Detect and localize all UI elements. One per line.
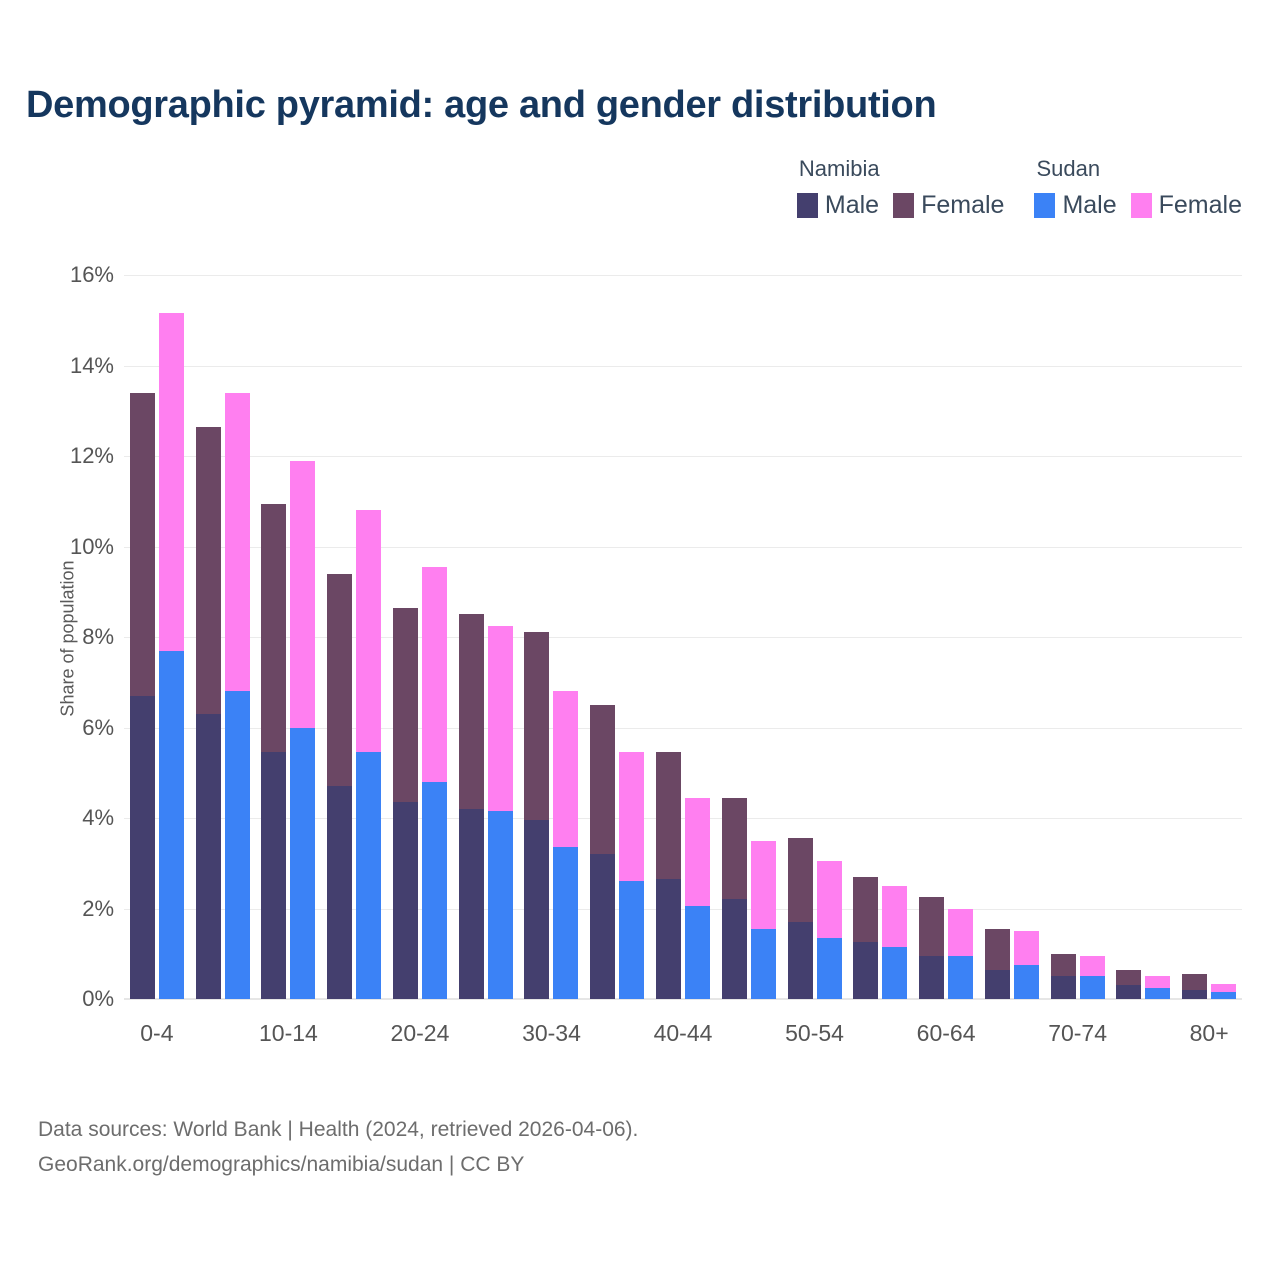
y-axis-tick-label: 14% — [0, 353, 114, 379]
x-axis-tick-blank — [1110, 1020, 1176, 1060]
bar-segment-sudan-female[interactable] — [1080, 956, 1105, 976]
bar-segment-namibia-female[interactable] — [919, 897, 944, 956]
bar-segment-sudan-female[interactable] — [290, 461, 315, 728]
stacked-bar-namibia[interactable] — [1182, 974, 1207, 999]
bar-segment-sudan-female[interactable] — [488, 626, 513, 812]
x-axis-labels: 0-410-1420-2430-3440-4450-5460-6470-7480… — [124, 1020, 1242, 1060]
bar-segment-sudan-male[interactable] — [1211, 992, 1236, 999]
stacked-bar-namibia[interactable] — [261, 504, 286, 999]
bar-segment-namibia-female[interactable] — [853, 877, 878, 943]
stacked-bar-sudan[interactable] — [948, 909, 973, 999]
bar-segment-namibia-male[interactable] — [261, 752, 286, 999]
bar-group — [190, 275, 256, 999]
bar-segment-namibia-female[interactable] — [1182, 974, 1207, 990]
y-axis-tick-label: 8% — [0, 624, 114, 650]
bar-segment-namibia-male[interactable] — [919, 956, 944, 999]
bar-segment-namibia-female[interactable] — [393, 608, 418, 803]
bar-segment-sudan-male[interactable] — [751, 929, 776, 999]
bar-segment-sudan-male[interactable] — [685, 906, 710, 999]
bar-group — [1176, 275, 1242, 999]
bar-segment-sudan-female[interactable] — [882, 886, 907, 947]
bar-segment-sudan-male[interactable] — [225, 691, 250, 999]
bar-segment-namibia-male[interactable] — [722, 899, 747, 999]
bar-group — [1045, 275, 1111, 999]
stacked-bar-sudan[interactable] — [685, 798, 710, 999]
x-axis-tick-blank — [584, 1020, 650, 1060]
bar-group — [782, 275, 848, 999]
stacked-bar-sudan[interactable] — [553, 691, 578, 999]
bar-segment-sudan-female[interactable] — [817, 861, 842, 938]
bar-group — [1110, 275, 1176, 999]
bar-segment-sudan-male[interactable] — [619, 881, 644, 999]
stacked-bar-sudan[interactable] — [356, 510, 381, 999]
plot-area: 0%2%4%6%8%10%12%14%16% — [124, 275, 1242, 999]
x-axis-tick-blank — [716, 1020, 782, 1060]
bar-segment-namibia-female[interactable] — [1116, 970, 1141, 986]
x-axis-tick-label: 80+ — [1176, 1020, 1242, 1060]
bar-segment-namibia-female[interactable] — [261, 504, 286, 753]
x-axis-tick-blank — [979, 1020, 1045, 1060]
bar-segment-namibia-female[interactable] — [788, 838, 813, 922]
stacked-bar-namibia[interactable] — [459, 614, 484, 999]
bar-segment-sudan-female[interactable] — [751, 841, 776, 929]
bar-group — [519, 275, 585, 999]
x-axis-tick-blank — [847, 1020, 913, 1060]
x-axis-tick-label: 60-64 — [913, 1020, 979, 1060]
bar-segment-sudan-male[interactable] — [159, 651, 184, 999]
y-axis-tick-label: 10% — [0, 534, 114, 560]
bar-segment-sudan-male[interactable] — [290, 728, 315, 1000]
bar-segment-namibia-male[interactable] — [459, 809, 484, 999]
bar-segment-sudan-male[interactable] — [948, 956, 973, 999]
bar-segment-namibia-male[interactable] — [196, 714, 221, 999]
bar-segment-sudan-male[interactable] — [1014, 965, 1039, 999]
bar-segment-namibia-male[interactable] — [524, 820, 549, 999]
stacked-bar-namibia[interactable] — [130, 393, 155, 999]
bar-segment-namibia-female[interactable] — [459, 614, 484, 809]
bar-segment-namibia-male[interactable] — [656, 879, 681, 999]
bar-segment-sudan-female[interactable] — [1145, 976, 1170, 987]
x-axis-tick-label: 20-24 — [387, 1020, 453, 1060]
footer-line-2: GeoRank.org/demographics/namibia/sudan |… — [38, 1147, 638, 1182]
bar-segment-sudan-female[interactable] — [685, 798, 710, 907]
plot-wrapper: Share of population 0%2%4%6%8%10%12%14%1… — [0, 0, 1280, 1280]
y-axis-tick-label: 16% — [0, 262, 114, 288]
bar-segment-namibia-male[interactable] — [985, 970, 1010, 999]
bar-segment-namibia-female[interactable] — [130, 393, 155, 696]
stacked-bar-sudan[interactable] — [1145, 976, 1170, 999]
y-axis-tick-label: 6% — [0, 715, 114, 741]
bar-group — [716, 275, 782, 999]
stacked-bar-sudan[interactable] — [817, 861, 842, 999]
bar-segment-namibia-female[interactable] — [524, 632, 549, 820]
stacked-bar-namibia[interactable] — [656, 752, 681, 999]
stacked-bar-namibia[interactable] — [919, 897, 944, 999]
bar-segment-namibia-male[interactable] — [130, 696, 155, 999]
x-axis-tick-label: 70-74 — [1045, 1020, 1111, 1060]
bar-segment-namibia-male[interactable] — [590, 854, 615, 999]
bar-segment-sudan-male[interactable] — [356, 752, 381, 999]
bar-segment-namibia-female[interactable] — [327, 574, 352, 787]
bar-segment-namibia-male[interactable] — [1116, 985, 1141, 999]
stacked-bar-sudan[interactable] — [1014, 931, 1039, 999]
bar-segment-sudan-female[interactable] — [225, 393, 250, 692]
bar-segment-namibia-female[interactable] — [590, 705, 615, 854]
stacked-bar-sudan[interactable] — [1211, 984, 1236, 999]
y-axis-tick-label: 2% — [0, 896, 114, 922]
stacked-bar-sudan[interactable] — [290, 461, 315, 999]
bar-group — [321, 275, 387, 999]
bar-segment-sudan-male[interactable] — [553, 847, 578, 999]
bar-group — [256, 275, 322, 999]
bar-segment-namibia-female[interactable] — [196, 427, 221, 714]
x-axis-tick-label: 0-4 — [124, 1020, 190, 1060]
stacked-bar-namibia[interactable] — [1051, 954, 1076, 999]
bar-segment-sudan-male[interactable] — [1145, 988, 1170, 999]
x-axis-tick-blank — [453, 1020, 519, 1060]
bar-group — [453, 275, 519, 999]
stacked-bar-sudan[interactable] — [159, 313, 184, 999]
bar-group — [650, 275, 716, 999]
bar-segment-namibia-female[interactable] — [656, 752, 681, 879]
stacked-bar-namibia[interactable] — [196, 427, 221, 999]
bar-group — [584, 275, 650, 999]
stacked-bar-sudan[interactable] — [1080, 956, 1105, 999]
x-axis-tick-blank — [321, 1020, 387, 1060]
bar-segment-sudan-female[interactable] — [948, 909, 973, 957]
x-axis-tick-label: 10-14 — [256, 1020, 322, 1060]
stacked-bar-namibia[interactable] — [590, 705, 615, 999]
x-axis-tick-label: 50-54 — [782, 1020, 848, 1060]
bar-group — [913, 275, 979, 999]
bar-segment-namibia-male[interactable] — [788, 922, 813, 999]
bar-segment-sudan-female[interactable] — [356, 510, 381, 752]
bar-segment-namibia-male[interactable] — [1051, 976, 1076, 999]
x-axis-tick-label: 30-34 — [519, 1020, 585, 1060]
bar-segment-namibia-female[interactable] — [1051, 954, 1076, 977]
stacked-bar-sudan[interactable] — [225, 393, 250, 999]
stacked-bar-sudan[interactable] — [422, 567, 447, 999]
bar-segment-sudan-female[interactable] — [553, 691, 578, 847]
stacked-bar-namibia[interactable] — [524, 632, 549, 999]
bar-group — [847, 275, 913, 999]
stacked-bar-sudan[interactable] — [488, 626, 513, 999]
stacked-bar-sudan[interactable] — [882, 886, 907, 999]
stacked-bar-namibia[interactable] — [1116, 970, 1141, 999]
bar-segment-namibia-female[interactable] — [722, 798, 747, 900]
bar-segment-sudan-male[interactable] — [882, 947, 907, 999]
bar-segment-namibia-male[interactable] — [1182, 990, 1207, 999]
bar-segment-sudan-female[interactable] — [619, 752, 644, 881]
footer-line-1: Data sources: World Bank | Health (2024,… — [38, 1112, 638, 1147]
bar-group — [979, 275, 1045, 999]
bar-groups — [124, 275, 1242, 999]
stacked-bar-namibia[interactable] — [788, 838, 813, 999]
bar-segment-sudan-male[interactable] — [488, 811, 513, 999]
bar-group — [124, 275, 190, 999]
chart-page: Demographic pyramid: age and gender dist… — [0, 0, 1280, 1280]
bar-segment-sudan-male[interactable] — [1080, 976, 1105, 999]
y-axis-tick-label: 4% — [0, 805, 114, 831]
bar-segment-sudan-male[interactable] — [817, 938, 842, 999]
bar-segment-sudan-female[interactable] — [1014, 931, 1039, 965]
stacked-bar-namibia[interactable] — [393, 608, 418, 999]
bar-segment-namibia-male[interactable] — [853, 942, 878, 999]
bar-segment-namibia-male[interactable] — [393, 802, 418, 999]
stacked-bar-sudan[interactable] — [751, 841, 776, 999]
bar-segment-namibia-male[interactable] — [327, 786, 352, 999]
y-axis-tick-label: 0% — [0, 986, 114, 1012]
footer-credits: Data sources: World Bank | Health (2024,… — [38, 1112, 638, 1183]
x-axis-tick-label: 40-44 — [650, 1020, 716, 1060]
bar-segment-namibia-female[interactable] — [985, 929, 1010, 970]
stacked-bar-namibia[interactable] — [985, 929, 1010, 999]
stacked-bar-namibia[interactable] — [853, 877, 878, 999]
bar-segment-sudan-female[interactable] — [159, 313, 184, 650]
stacked-bar-namibia[interactable] — [327, 574, 352, 999]
y-axis-tick-label: 12% — [0, 443, 114, 469]
x-axis-tick-blank — [190, 1020, 256, 1060]
bar-segment-sudan-female[interactable] — [422, 567, 447, 782]
bar-group — [387, 275, 453, 999]
bar-segment-sudan-male[interactable] — [422, 782, 447, 999]
bar-segment-sudan-female[interactable] — [1211, 984, 1236, 992]
stacked-bar-namibia[interactable] — [722, 798, 747, 999]
stacked-bar-sudan[interactable] — [619, 752, 644, 999]
